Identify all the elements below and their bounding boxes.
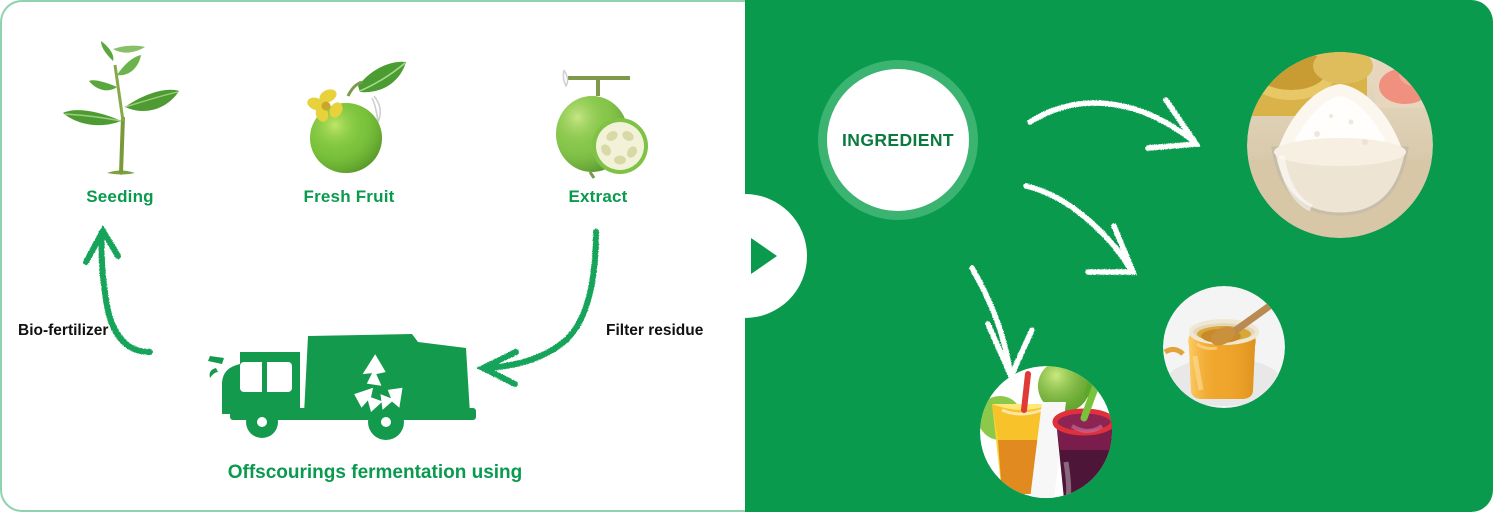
monk-fruit-image xyxy=(286,52,412,180)
bottom-caption: Offscourings fermentation using xyxy=(0,462,750,484)
ingredient-hub: INGREDIENT xyxy=(818,60,978,220)
seedling-image xyxy=(55,25,185,180)
juice-glasses-image xyxy=(980,366,1113,499)
stage-item-seeding: Seeding xyxy=(55,25,185,207)
seam-knob xyxy=(683,194,807,318)
stage-caption-seeding: Seeding xyxy=(55,187,185,207)
stage-item-fresh-fruit: Fresh Fruit xyxy=(286,52,412,207)
ingredient-hub-label: INGREDIENT xyxy=(842,130,954,151)
label-filter-residue: Filter residue xyxy=(606,322,703,340)
infographic-canvas: Seeding Fr xyxy=(0,0,1493,512)
cut-fruit-image xyxy=(534,52,662,180)
recycling-truck-icon xyxy=(200,322,490,447)
stage-caption-extract: Extract xyxy=(534,187,662,207)
powder-bowl-image xyxy=(1247,52,1433,238)
stage-item-extract: Extract xyxy=(534,52,662,207)
play-triangle-icon xyxy=(751,238,777,274)
recycling-truck xyxy=(200,322,490,452)
stage-caption-fresh-fruit: Fresh Fruit xyxy=(286,187,412,207)
honey-jar-image xyxy=(1163,286,1285,408)
label-bio-fertilizer: Bio-fertilizer xyxy=(18,322,108,340)
